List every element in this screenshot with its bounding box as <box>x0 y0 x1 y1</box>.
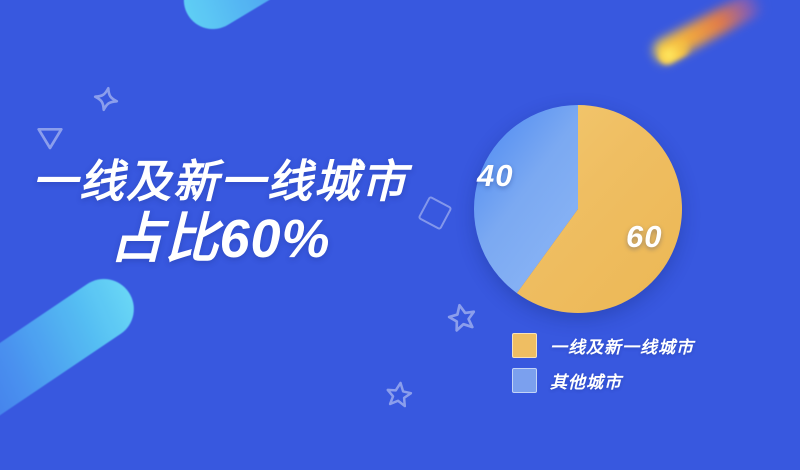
legend-swatch-icon <box>512 368 537 393</box>
sparkle-outline-icon <box>91 84 122 115</box>
capsule-stripe-top-right-icon <box>173 0 460 40</box>
legend-item-label: 其他城市 <box>550 368 622 393</box>
pie-value-label-other: 40 <box>477 158 513 194</box>
infographic-banner: 一线及新一线城市 占比60% <box>0 0 800 470</box>
legend-item-tier1-cities[interactable]: 一线及新一线城市 <box>512 332 694 358</box>
legend-item-other-cities[interactable]: 其他城市 <box>512 367 694 393</box>
chart-legend: 一线及新一线城市 其他城市 <box>512 332 694 402</box>
headline-line-1: 一线及新一线城市 <box>0 156 440 208</box>
pie-chart <box>474 105 682 313</box>
pie-svg <box>474 105 682 313</box>
headline-line-2: 占比60% <box>0 208 440 270</box>
capsule-stripe-bottom-left-icon <box>0 267 145 470</box>
legend-item-label: 一线及新一线城市 <box>550 333 694 358</box>
comet-head-icon <box>656 37 694 67</box>
page-title: 一线及新一线城市 占比60% <box>0 156 440 270</box>
comet-streak-icon <box>649 0 766 67</box>
pie-chart-graphic <box>474 105 682 313</box>
triangle-outline-icon <box>36 126 64 150</box>
legend-swatch-icon <box>512 333 537 358</box>
star-outline-icon <box>384 379 413 408</box>
pie-value-label-tier1: 60 <box>626 219 662 255</box>
